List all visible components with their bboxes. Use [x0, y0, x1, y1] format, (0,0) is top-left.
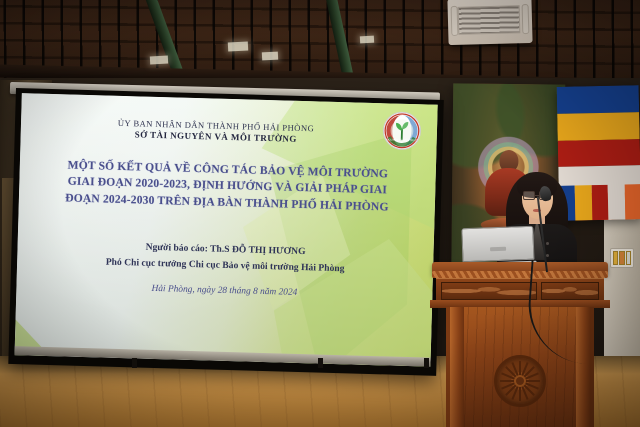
- screen-stand-leg: [424, 358, 429, 368]
- ac-side-panel: [522, 4, 530, 34]
- podium-front-panel: [446, 307, 594, 427]
- podium-carved-frieze: [436, 278, 604, 302]
- dharma-wheel-carving: [494, 355, 546, 407]
- ceiling-light: [262, 52, 278, 61]
- laptop-brand-logo: [490, 247, 506, 252]
- podium-rope-moulding: [432, 271, 608, 278]
- projection-screen: TÀI NGUYÊN VÀ MÔI TRƯỜNG ỦY BAN NHÂN DÂN…: [8, 88, 444, 376]
- ceiling-air-conditioner: [447, 0, 532, 45]
- slide-presenter-block: Người báo cáo: Th.S ĐỖ THỊ HƯƠNG Phó Chi…: [31, 237, 420, 279]
- ceiling-light: [228, 41, 248, 51]
- podium-carved-panel: [441, 282, 537, 300]
- blazer-button: [546, 242, 549, 245]
- laptop-lid: [461, 226, 534, 262]
- flag-vertical-band: [624, 184, 640, 219]
- outlet-socket: [613, 251, 618, 265]
- flag-stripe-yellow: [557, 112, 640, 141]
- ceiling-light: [360, 36, 374, 44]
- screen-stand-leg: [132, 358, 137, 368]
- flag-vertical-band: [608, 185, 625, 220]
- flag-stripe-blue: [557, 85, 640, 114]
- right-wall: [604, 210, 640, 360]
- outlet-socket: [619, 251, 624, 265]
- screen-stand-leg: [318, 358, 323, 368]
- slide-date-line: Hải Phòng, ngày 28 tháng 8 năm 2024: [30, 281, 418, 302]
- slide-title: MỘT SỐ KẾT QUẢ VỀ CÔNG TÁC BẢO VỆ MÔI TR…: [33, 157, 422, 217]
- slide-surface: TÀI NGUYÊN VÀ MÔI TRƯỜNG ỦY BAN NHÂN DÂN…: [15, 93, 438, 367]
- carved-wooden-podium: [432, 262, 608, 427]
- podium-pillar: [576, 307, 590, 427]
- wheel-hub: [514, 375, 526, 387]
- flag-vertical-band: [591, 185, 608, 220]
- conference-room-scene: TÀI NGUYÊN VÀ MÔI TRƯỜNG ỦY BAN NHÂN DÂN…: [0, 0, 640, 427]
- ac-vent-grille: [458, 5, 521, 35]
- ceiling-light: [150, 56, 168, 65]
- podium-carved-panel: [541, 282, 599, 300]
- slide-content: ỦY BAN NHÂN DÂN THÀNH PHỐ HẢI PHÒNG SỞ T…: [15, 93, 438, 367]
- outlet-socket: [626, 251, 631, 265]
- wall-power-outlet[interactable]: [610, 248, 634, 268]
- flag-stripe-red: [558, 139, 640, 168]
- glasses-lens-left: [523, 191, 535, 200]
- ac-side-panel: [451, 6, 459, 36]
- podium-pillar: [450, 307, 464, 427]
